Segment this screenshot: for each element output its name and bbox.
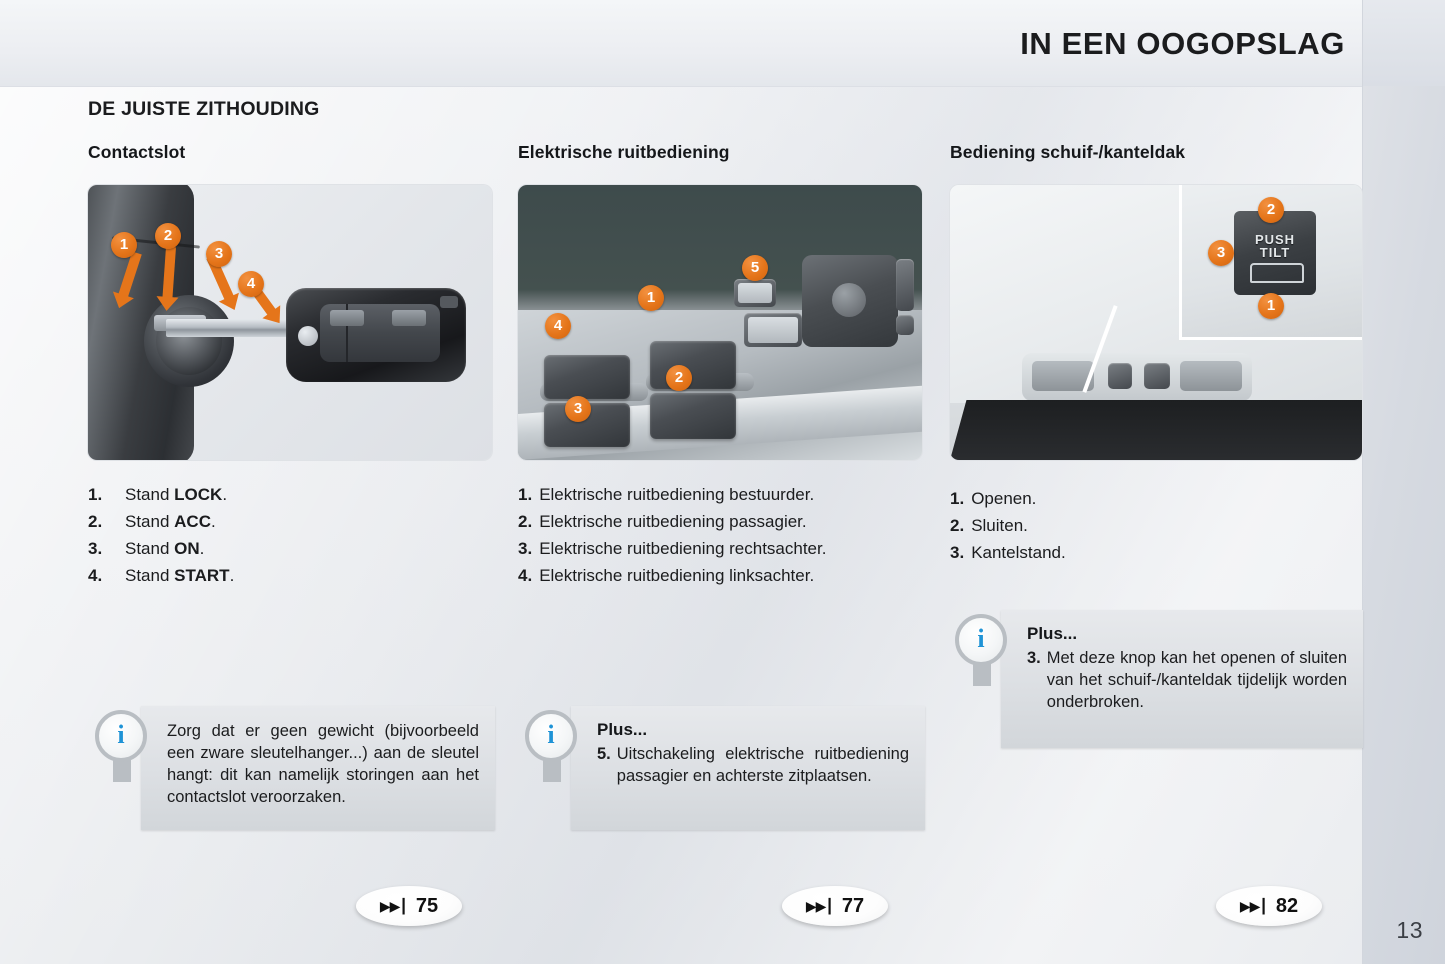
window-switch-passenger (650, 393, 736, 439)
list-item-text: Kantelstand. (971, 540, 1066, 565)
list-item-strong: ACC (174, 512, 211, 531)
list-item-text: Sluiten. (971, 513, 1028, 538)
list-item-text: Openen. (971, 486, 1036, 511)
info-box-body: Plus... 3. Met deze knop kan het openen … (1001, 610, 1363, 748)
list-item-number: 2. (950, 513, 964, 538)
list-item-text: Elektrische ruitbediening rechtsachter. (539, 536, 826, 561)
info-icon: i (95, 710, 147, 762)
header-title: IN EEN OOGOPSLAG (1020, 26, 1345, 62)
sunroof-switch-inset: PUSH TILT 2 3 1 (1179, 185, 1362, 340)
push-tilt-label-line2: TILT (1260, 245, 1290, 260)
column-title-ruitbediening: Elektrische ruitbediening (518, 142, 920, 163)
key-blade (166, 319, 306, 337)
callout-badge-3: 3 (565, 396, 591, 422)
key-fob (286, 288, 466, 382)
callout-badge-4: 4 (545, 313, 571, 339)
callout-badge-1: 1 (1258, 293, 1284, 319)
list-item-number: 4. (88, 563, 118, 588)
window-switch-rear-right (544, 355, 630, 399)
skip-forward-icon: ▶▶┃ (1240, 898, 1267, 915)
info-box-body: Plus... 5. Uitschakeling elektrische rui… (571, 706, 925, 830)
list-item-number: 3. (88, 536, 118, 561)
list-item: 4. Elektrische ruitbediening linksachter… (518, 563, 920, 588)
list-item-number: 4. (518, 563, 532, 588)
list-item: 1. Elektrische ruitbediening bestuurder. (518, 482, 920, 507)
page-header: IN EEN OOGOPSLAG (0, 0, 1363, 87)
window-switch-panel-photo: 5 1 4 2 3 (518, 185, 922, 460)
list-item-text: Elektrische ruitbediening bestuurder. (539, 482, 814, 507)
info-icon: i (525, 710, 577, 762)
info-box-text: Met deze knop kan het openen of sluiten … (1047, 647, 1347, 713)
page-number: 13 (1396, 917, 1423, 944)
window-switch-driver (650, 341, 736, 389)
list-item-number: 3. (518, 536, 532, 561)
list-item-number: 3. (950, 540, 964, 565)
info-icon: i (955, 614, 1007, 666)
window-lockout-button (734, 279, 776, 307)
list-item-text: Stand (125, 539, 174, 558)
list-item-strong: START (174, 566, 229, 585)
manual-page: IN EEN OOGOPSLAG 13 DE JUISTE ZITHOUDING… (0, 0, 1445, 964)
list-item: 4. Stand START. (88, 563, 490, 588)
list-item: 2. Sluiten. (950, 513, 1362, 538)
column-schuifdak: Bediening schuif-/kanteldak PUSH TILT (950, 142, 1362, 567)
list-item-number: 2. (88, 509, 118, 534)
child-lock-button (744, 313, 802, 347)
page-ref-number: 75 (416, 895, 438, 918)
list-item: 1. Stand LOCK. (88, 482, 490, 507)
push-tilt-label: PUSH TILT (1234, 233, 1316, 259)
info-box-text: Uitschakeling elektrische ruitbediening … (617, 743, 909, 787)
callout-badge-2: 2 (155, 223, 181, 249)
info-box-item-number: 5. (597, 743, 611, 787)
list-ruitbediening: 1. Elektrische ruitbediening bestuurder.… (518, 482, 920, 588)
column-title-schuifdak: Bediening schuif-/kanteldak (950, 142, 1362, 163)
list-contactslot: 1. Stand LOCK. 2. Stand ACC. 3. Stand ON… (88, 482, 490, 588)
list-item: 3. Elektrische ruitbediening rechtsachte… (518, 536, 920, 561)
column-title-contactslot: Contactslot (88, 142, 490, 163)
skip-forward-icon: ▶▶┃ (380, 898, 407, 915)
callout-badge-3: 3 (1208, 240, 1234, 266)
callout-badge-2: 2 (666, 365, 692, 391)
key-fob-notch (440, 296, 458, 308)
key-fob-unlock-button (392, 310, 426, 326)
console-switch-a (1108, 363, 1132, 389)
list-item-text: Stand (125, 512, 174, 531)
page-ref-pill-75[interactable]: ▶▶┃ 75 (356, 886, 462, 926)
ignition-switch-and-key-photo: 1 2 3 4 (88, 185, 492, 460)
windscreen-shadow-band (950, 400, 1362, 460)
list-item-text: Stand (125, 566, 174, 585)
key-fob-ring-hole (298, 326, 318, 346)
section-title: DE JUISTE ZITHOUDING (88, 98, 320, 121)
callout-badge-1: 1 (111, 232, 137, 258)
skip-forward-icon: ▶▶┃ (806, 898, 833, 915)
list-item-post: . (211, 512, 216, 531)
list-schuifdak: 1. Openen. 2. Sluiten. 3. Kantelstand. (950, 486, 1362, 565)
info-box-title: Plus... (597, 720, 909, 740)
callout-badge-1: 1 (638, 285, 664, 311)
list-item: 1. Openen. (950, 486, 1362, 511)
push-tilt-button: PUSH TILT (1234, 211, 1316, 295)
callout-badge-5: 5 (742, 255, 768, 281)
page-ref-number: 77 (842, 895, 864, 918)
roof-pictogram-icon (1250, 263, 1304, 283)
list-item: 2. Elektrische ruitbediening passagier. (518, 509, 920, 534)
key-fob-lock-button (330, 310, 364, 326)
callout-badge-3: 3 (206, 241, 232, 267)
list-item-text: Stand (125, 485, 174, 504)
list-item-post: . (230, 566, 235, 585)
sunroof-console-photo: PUSH TILT 2 3 1 (950, 185, 1362, 460)
sunroof-switch (1144, 363, 1170, 389)
list-item-number: 1. (950, 486, 964, 511)
column-ruitbediening: Elektrische ruitbediening 5 1 4 (518, 142, 920, 590)
list-item-post: . (222, 485, 227, 504)
list-item-strong: LOCK (174, 485, 222, 504)
list-item: 3. Stand ON. (88, 536, 490, 561)
list-item-text: Elektrische ruitbediening linksachter. (539, 563, 814, 588)
column-contactslot: Contactslot 1 2 3 (88, 142, 490, 590)
callout-badge-4: 4 (238, 271, 264, 297)
mirror-select-switch (896, 259, 914, 311)
list-item: 2. Stand ACC. (88, 509, 490, 534)
window-lockout-icon (738, 283, 772, 303)
child-lock-icon (748, 317, 798, 343)
list-item: 3. Kantelstand. (950, 540, 1362, 565)
page-ref-pill-82[interactable]: ▶▶┃ 82 (1216, 886, 1322, 926)
info-box-text: Zorg dat er geen gewicht (bijvoorbeeld e… (167, 720, 479, 808)
page-spine-top (1363, 0, 1445, 86)
list-item-text: Elektrische ruitbediening passagier. (539, 509, 806, 534)
page-spine (1362, 0, 1445, 964)
mirror-fold-button (896, 315, 914, 335)
info-box-title: Plus... (1027, 624, 1347, 644)
info-box-contactslot: i Zorg dat er geen gewicht (bijvoorbeeld… (95, 706, 495, 830)
page-ref-pill-77[interactable]: ▶▶┃ 77 (782, 886, 888, 926)
info-box-schuifdak: i Plus... 3. Met deze knop kan het opene… (955, 610, 1363, 748)
list-item-number: 2. (518, 509, 532, 534)
list-item-strong: ON (174, 539, 200, 558)
info-box-body: Zorg dat er geen gewicht (bijvoorbeeld e… (141, 706, 495, 830)
list-item-number: 1. (518, 482, 532, 507)
mirror-joystick-knob (832, 283, 866, 317)
reading-lamp-right (1180, 361, 1242, 391)
list-item-post: . (200, 539, 205, 558)
info-box-item-number: 3. (1027, 647, 1041, 713)
callout-badge-2: 2 (1258, 197, 1284, 223)
page-ref-number: 82 (1276, 895, 1298, 918)
mirror-adjust-control (802, 255, 898, 347)
list-item-number: 1. (88, 482, 118, 507)
overhead-console (1022, 353, 1252, 401)
info-box-ruitbediening: i Plus... 5. Uitschakeling elektrische r… (525, 706, 925, 830)
